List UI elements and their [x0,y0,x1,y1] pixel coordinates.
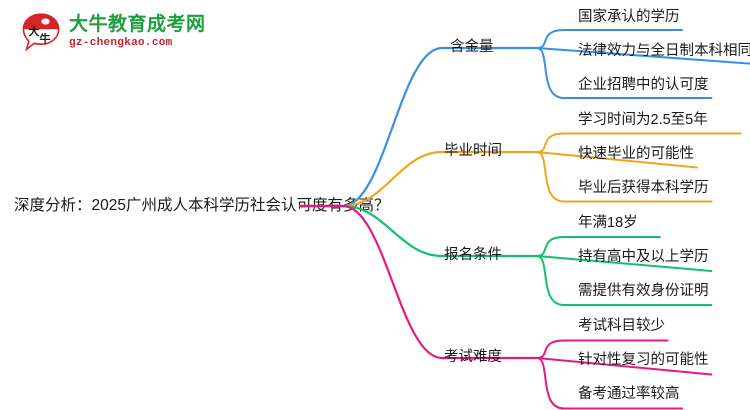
speech-bubble-logo-icon: 大 牛 [20,11,62,53]
logo-site-name: 大牛教育成考网 [69,15,206,34]
branch-label-0[interactable]: 含金量 [450,40,494,55]
mindmap-root-node[interactable]: 深度分析：2025广州成人本科学历社会认可度有多高？ [14,192,344,220]
leaf-label-1-1[interactable]: 快速毕业的可能性 [578,147,694,162]
site-logo[interactable]: 大 牛 大牛教育成考网 gz-chengkao.com [20,8,220,56]
branch-label-2[interactable]: 报名条件 [444,248,502,263]
leaf-label-2-2[interactable]: 需提供有效身份证明 [578,284,709,299]
leaf-label-3-1[interactable]: 针对性复习的可能性 [578,353,709,368]
logo-site-url: gz-chengkao.com [69,38,206,49]
svg-text:牛: 牛 [40,32,51,46]
leaf-label-3-0[interactable]: 考试科目较少 [578,319,665,334]
leaf-label-3-2[interactable]: 备考通过率较高 [578,387,680,402]
svg-text:大: 大 [29,24,40,38]
leaf-label-2-1[interactable]: 持有高中及以上学历 [578,250,709,265]
branch-label-1[interactable]: 毕业时间 [444,144,502,159]
leaf-label-0-0[interactable]: 国家承认的学历 [578,10,680,25]
leaf-label-1-0[interactable]: 学习时间为2.5至5年 [578,113,708,128]
page-title: 深度分析：2025广州成人本科学历社会认可度有多高？ [14,197,389,216]
leaf-label-0-1[interactable]: 法律效力与全日制本科相同 [578,44,750,59]
mindmap-canvas: 大 牛 大牛教育成考网 gz-chengkao.com 深度分析：2025广州成… [0,0,750,410]
logo-text-block: 大牛教育成考网 gz-chengkao.com [69,15,206,49]
leaf-label-1-2[interactable]: 毕业后获得本科学历 [578,181,709,196]
branch-label-3[interactable]: 考试难度 [444,350,502,365]
leaf-label-0-2[interactable]: 企业招聘中的认可度 [578,78,709,93]
leaf-label-2-0[interactable]: 年满18岁 [578,216,638,231]
